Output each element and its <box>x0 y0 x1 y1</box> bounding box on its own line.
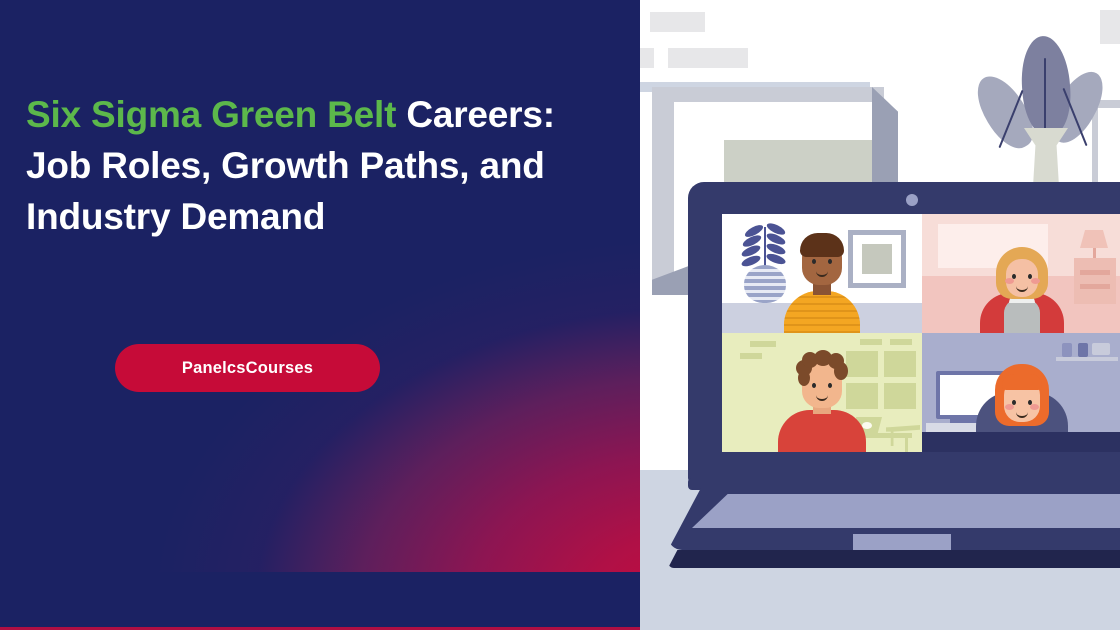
participant-hair <box>796 350 848 382</box>
blush <box>1005 278 1014 284</box>
sticky-note-icon <box>886 351 908 357</box>
laptop-lid <box>688 182 1120 482</box>
sticky-note-icon <box>750 341 776 347</box>
participant-tile[interactable] <box>922 333 1120 452</box>
sticky-note-icon <box>860 339 882 345</box>
chair-icon <box>886 416 920 446</box>
plant-vase <box>1024 128 1068 190</box>
blush <box>1031 278 1040 284</box>
picture-frame-icon <box>848 230 906 288</box>
participant-head <box>1003 253 1041 297</box>
laptop-illustration <box>668 182 1120 602</box>
nightstand-icon <box>1074 258 1116 304</box>
box-icon <box>1092 343 1110 355</box>
participant-tile[interactable] <box>722 214 922 333</box>
plant-pot <box>744 265 786 303</box>
laptop-base-shadow <box>668 550 1120 568</box>
participant-tile[interactable] <box>922 214 1120 333</box>
eye <box>828 259 832 264</box>
shelf-book-icon <box>640 48 654 68</box>
title-highlight: Six Sigma Green Belt <box>26 94 396 135</box>
left-text-panel: Six Sigma Green Belt Careers: Job Roles,… <box>0 0 640 630</box>
sticky-note-icon <box>890 339 912 345</box>
laptop-keyboard <box>692 494 1120 528</box>
shelf-book-icon <box>668 48 748 68</box>
eye <box>812 383 816 388</box>
mouth <box>1016 284 1028 292</box>
illustration-panel <box>640 0 1120 630</box>
eye <box>812 259 816 264</box>
blush <box>1005 404 1014 410</box>
wall-panels-icon <box>846 351 916 411</box>
title-line1-rest: Careers: <box>396 94 555 135</box>
eye <box>828 383 832 388</box>
title-line2: Job Roles, Growth Paths, and <box>26 145 545 186</box>
page-title: Six Sigma Green Belt Careers: Job Roles,… <box>26 89 626 242</box>
participant-hair <box>800 233 844 257</box>
potted-plant-icon <box>980 28 1110 193</box>
mouth <box>816 269 828 277</box>
striped-shirt <box>784 291 860 333</box>
banner-stage: Six Sigma Green Belt Careers: Job Roles,… <box>0 0 1120 630</box>
brand-badge-label: PanelcsCourses <box>182 359 313 378</box>
blush <box>1030 404 1039 410</box>
jar-icon <box>1062 343 1072 357</box>
shelf-icon <box>1056 357 1118 361</box>
footer-band <box>0 572 640 630</box>
gradient-glow <box>0 0 640 578</box>
participant-body <box>784 291 860 333</box>
mouth <box>816 393 828 401</box>
sticky-note-icon <box>740 353 762 359</box>
shelf-book-icon <box>650 12 705 32</box>
desk-leg <box>905 436 908 452</box>
brand-badge[interactable]: PanelcsCourses <box>115 344 380 392</box>
participant-shirt <box>1004 299 1040 333</box>
participant-bangs <box>1002 374 1042 390</box>
participant-tile[interactable] <box>722 333 922 452</box>
webcam-icon <box>906 194 918 206</box>
laptop-screen-glow <box>862 422 872 429</box>
participant-body <box>778 410 866 452</box>
mouth <box>1016 410 1028 418</box>
video-call-grid <box>722 214 1120 452</box>
counter-surface <box>922 432 1120 452</box>
jar-icon <box>1078 343 1088 357</box>
title-line3: Industry Demand <box>26 196 325 237</box>
